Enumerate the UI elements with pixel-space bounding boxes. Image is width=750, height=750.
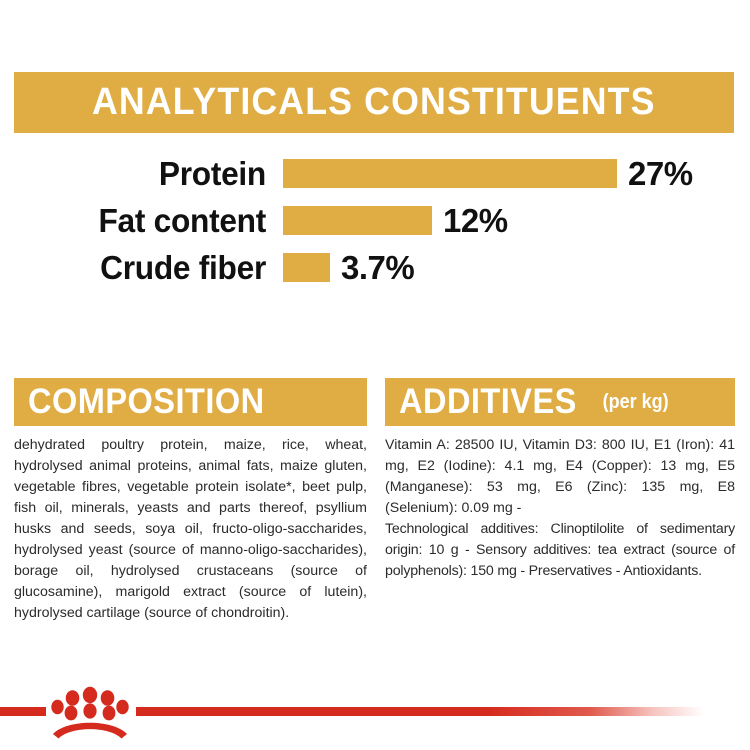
additives-text-secondary: Technological additives: Clinoptilolite …: [385, 519, 735, 582]
chart-value-fat-content: 12%: [443, 202, 508, 240]
composition-panel: COMPOSITION dehydrated poultry protein, …: [14, 378, 367, 624]
chart-value-protein: 27%: [628, 155, 693, 193]
additives-panel-body: Vitamin A: 28500 IU, Vitamin D3: 800 IU,…: [385, 435, 735, 582]
additives-panel-header: ADDITIVES (per kg): [385, 378, 735, 426]
analyticals-bar-chart: Protein 27% Fat content 12% Crude fiber …: [0, 150, 750, 291]
info-panels: COMPOSITION dehydrated poultry protein, …: [0, 378, 750, 624]
chart-row-protein: Protein 27%: [0, 150, 750, 197]
brand-footer: [0, 686, 750, 750]
chart-bar-wrap-protein: 27%: [283, 155, 693, 193]
chart-bar-fat-content: [283, 206, 432, 235]
composition-panel-body: dehydrated poultry protein, maize, rice,…: [14, 435, 367, 624]
chart-row-crude-fiber: Crude fiber 3.7%: [0, 244, 750, 291]
chart-bar-protein: [283, 159, 617, 188]
composition-panel-title: COMPOSITION: [28, 382, 265, 422]
chart-bar-wrap-crude-fiber: 3.7%: [283, 249, 414, 287]
brand-rule-left: [0, 707, 46, 716]
analyticals-banner-title: ANALYTICALS CONSTITUENTS: [92, 81, 656, 124]
chart-row-fat-content: Fat content 12%: [0, 197, 750, 244]
brand-rule-right: [136, 707, 704, 716]
chart-value-crude-fiber: 3.7%: [341, 249, 414, 287]
analyticals-banner: ANALYTICALS CONSTITUENTS: [14, 72, 734, 133]
chart-label-protein: Protein: [11, 155, 266, 193]
composition-text: dehydrated poultry protein, maize, rice,…: [14, 435, 367, 624]
additives-text-primary: Vitamin A: 28500 IU, Vitamin D3: 800 IU,…: [385, 435, 735, 519]
additives-panel: ADDITIVES (per kg) Vitamin A: 28500 IU, …: [385, 378, 735, 624]
additives-panel-title: ADDITIVES: [399, 382, 577, 422]
chart-label-crude-fiber: Crude fiber: [11, 249, 266, 287]
chart-bar-crude-fiber: [283, 253, 330, 282]
composition-panel-header: COMPOSITION: [14, 378, 367, 426]
chart-label-fat-content: Fat content: [11, 202, 266, 240]
royal-canin-crown-icon: [49, 686, 131, 742]
additives-panel-subtitle: (per kg): [603, 391, 669, 414]
chart-bar-wrap-fat-content: 12%: [283, 202, 508, 240]
